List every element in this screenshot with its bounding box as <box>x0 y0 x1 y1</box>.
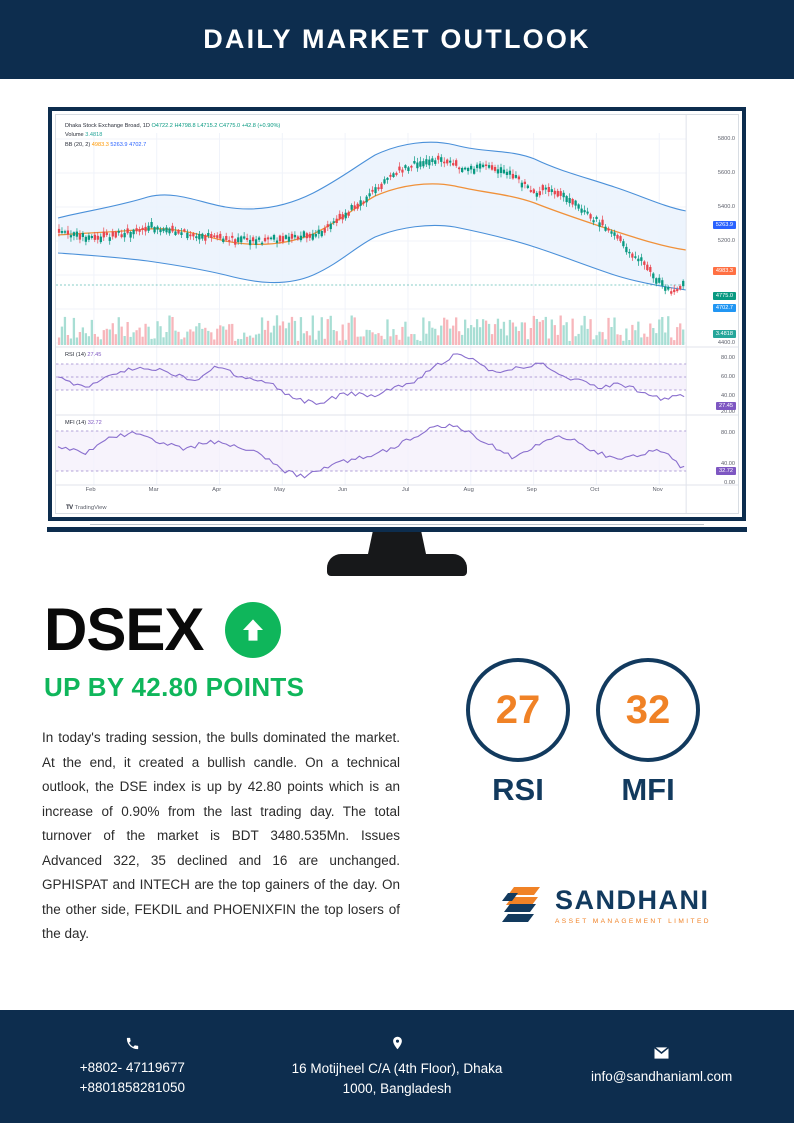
footer-address-2: 1000, Bangladesh <box>265 1079 530 1099</box>
x-tick: Nov <box>652 487 662 493</box>
gauge-mfi-circle: 32 <box>596 658 700 762</box>
price-badge-bb-lower: 4702.7 <box>713 304 736 312</box>
logo-company-name: SANDHANI <box>555 887 711 914</box>
location-pin-icon <box>390 1034 405 1052</box>
x-tick: Apr <box>212 487 221 493</box>
arrow-up-icon <box>225 602 281 658</box>
chart-high: H4798.8 <box>174 123 195 129</box>
gauge-rsi-label: RSI <box>466 772 570 808</box>
tradingview-logo-icon: TV <box>66 505 73 511</box>
logo-tagline: ASSET MANAGEMENT LIMITED <box>555 918 711 925</box>
monitor-screen: Dhaka Stock Exchange Broad, 1D O4722.2 H… <box>55 114 739 514</box>
x-tick: Mar <box>149 487 159 493</box>
arrow-up-glyph <box>238 615 268 645</box>
gauge-rsi: 27 RSI <box>466 658 570 808</box>
tradingview-watermark: TV TradingView <box>66 505 107 511</box>
mfi-value: 32.72 <box>88 420 102 426</box>
price-badge-sma: 4983.3 <box>713 267 736 275</box>
chart-bb-row: BB (20, 2) 4983.3 5263.9 4702.7 <box>65 141 280 150</box>
company-logo: SANDHANI ASSET MANAGEMENT LIMITED <box>500 884 711 928</box>
monitor-illustration: Dhaka Stock Exchange Broad, 1D O4722.2 H… <box>0 107 794 576</box>
phone-icon <box>125 1036 140 1051</box>
monitor-stand-neck <box>368 532 426 554</box>
rsi-pane-legend: RSI (14) 27.45 <box>65 352 101 358</box>
mfi-label: MFI (14) <box>65 420 86 426</box>
footer-phone-1[interactable]: +8802- 47119677 <box>0 1058 265 1078</box>
volume-value: 3.4818 <box>85 132 102 138</box>
chart-symbol: Dhaka Stock Exchange Broad, 1D <box>65 123 150 129</box>
rsi-axis-label: 60.00 <box>721 374 735 380</box>
x-tick: May <box>274 487 285 493</box>
gauge-rsi-value: 27 <box>496 688 541 733</box>
footer-email[interactable]: info@sandhaniaml.com <box>529 1067 794 1087</box>
footer-address-block: 16 Motijheel C/A (4th Floor), Dhaka 1000… <box>265 1034 530 1099</box>
x-tick: Feb <box>86 487 96 493</box>
chart-canvas <box>56 115 738 513</box>
bb-label: BB (20, 2) <box>65 142 90 148</box>
chart-symbol-row: Dhaka Stock Exchange Broad, 1D O4722.2 H… <box>65 122 280 131</box>
chart-open: O4722.2 <box>151 123 172 129</box>
monitor-bezel: Dhaka Stock Exchange Broad, 1D O4722.2 H… <box>48 107 746 521</box>
monitor-stand-lip <box>47 527 747 532</box>
page-footer: +8802- 47119677 +8801858281050 16 Motijh… <box>0 1010 794 1123</box>
logo-text-block: SANDHANI ASSET MANAGEMENT LIMITED <box>555 887 711 925</box>
mfi-axis-label: 80.00 <box>721 430 735 436</box>
tradingview-chart[interactable]: Dhaka Stock Exchange Broad, 1D O4722.2 H… <box>56 115 738 513</box>
rsi-axis-badge: 27.45 <box>716 402 736 410</box>
price-axis[interactable]: 5800.0 5600.0 5400.0 5200.0 4600.0 4400.… <box>686 115 738 513</box>
axis-label: 5400.0 <box>718 204 735 210</box>
chart-legend: Dhaka Stock Exchange Broad, 1D O4722.2 H… <box>65 122 280 150</box>
axis-label: 5800.0 <box>718 136 735 142</box>
rsi-axis-label: 40.00 <box>721 393 735 399</box>
footer-phone-2[interactable]: +8801858281050 <box>0 1078 265 1098</box>
index-name: DSEX <box>44 600 203 660</box>
bb-value-3: 4702.7 <box>129 142 146 148</box>
price-badge-volume: 3.4818 <box>713 330 736 338</box>
footer-email-block: info@sandhaniaml.com <box>529 1046 794 1087</box>
x-tick: Jun <box>338 487 347 493</box>
rsi-axis-label: 80.00 <box>721 355 735 361</box>
x-tick: Jul <box>402 487 409 493</box>
axis-label: 5200.0 <box>718 238 735 244</box>
index-headline-row: DSEX <box>44 600 794 660</box>
chart-volume-row: Volume 3.4818 <box>65 131 280 140</box>
gauge-mfi: 32 MFI <box>596 658 700 808</box>
gauge-rsi-circle: 27 <box>466 658 570 762</box>
axis-label: 5600.0 <box>718 170 735 176</box>
mfi-axis-label: 0.00 <box>724 480 735 486</box>
chart-change: +42.8 (+0.90%) <box>242 123 281 129</box>
monitor-stand-base <box>327 554 467 576</box>
rsi-value: 27.45 <box>87 352 101 358</box>
market-summary-text: In today's trading session, the bulls do… <box>42 726 400 947</box>
rsi-label: RSI (14) <box>65 352 86 358</box>
bb-value-2: 5263.9 <box>110 142 127 148</box>
x-tick: Aug <box>463 487 473 493</box>
footer-phone-block: +8802- 47119677 +8801858281050 <box>0 1036 265 1098</box>
gauge-mfi-label: MFI <box>596 772 700 808</box>
x-tick: Oct <box>590 487 599 493</box>
mfi-axis-badge: 32.72 <box>716 467 736 475</box>
page-header: DAILY MARKET OUTLOOK <box>0 0 794 79</box>
tradingview-label: TradingView <box>75 505 107 511</box>
indicator-gauges: 27 RSI 32 MFI <box>466 658 700 808</box>
sandhani-mark-icon <box>500 884 546 928</box>
x-tick: Sep <box>526 487 536 493</box>
gauge-mfi-value: 32 <box>626 688 671 733</box>
axis-label: 4400.0 <box>718 340 735 346</box>
price-badge-close: 4775.0 <box>713 292 736 300</box>
time-axis[interactable]: Feb Mar Apr May Jun Jul Aug Sep Oct Nov <box>56 487 686 499</box>
price-badge-bb-upper: 5263.9 <box>713 221 736 229</box>
envelope-icon <box>653 1046 670 1060</box>
footer-address-1: 16 Motijheel C/A (4th Floor), Dhaka <box>265 1059 530 1079</box>
volume-label: Volume <box>65 132 84 138</box>
chart-low: L4715.2 <box>197 123 217 129</box>
bb-value-1: 4983.3 <box>92 142 109 148</box>
chart-close: C4775.0 <box>219 123 240 129</box>
mfi-pane-legend: MFI (14) 32.72 <box>65 420 102 426</box>
page-title: DAILY MARKET OUTLOOK <box>203 24 591 55</box>
